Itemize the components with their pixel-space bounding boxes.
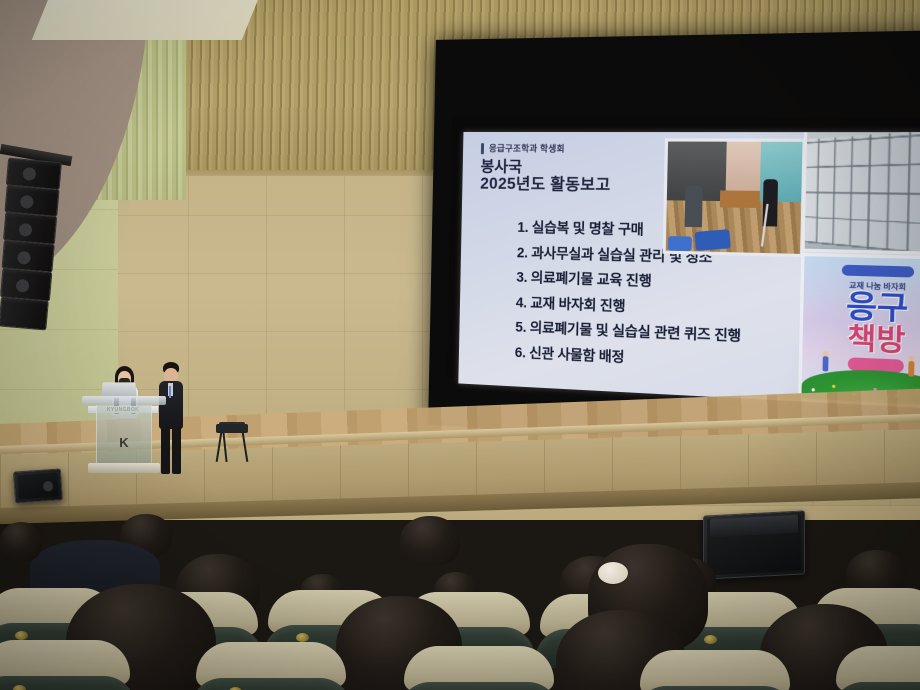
slide-title-line2: 2025년도 활동보고 [480,175,611,194]
slide-eyebrow: 응급구조학과 학생회 [481,142,565,155]
ceiling-soffit [32,0,270,40]
audience-head [400,516,460,566]
floor-monitor-speaker-left [13,468,63,503]
poster-title-line1: 응구 [803,290,920,327]
audience-head [0,522,42,562]
podium-base [88,463,160,473]
bazaar-poster-photo: 교재 나눔 바자회 응구 책방 [798,253,920,410]
seat [404,646,554,690]
student-figure [685,185,703,227]
lab-cleaning-photo [662,138,806,257]
presenter-standing [158,362,184,474]
slide-eyebrow-label: 응급구조학과 학생회 [489,142,565,155]
slide-title: 봉사국 2025년도 활동보고 [480,158,611,194]
poster-figure [822,356,828,371]
seat [836,646,920,690]
seat [0,640,130,690]
seat [640,650,790,690]
poster-top-pill [842,264,914,277]
lockers-photo [801,132,920,255]
poster-figure [908,361,914,377]
presentation-slide: 응급구조학과 학생회 봉사국 2025년도 활동보고 1. 실습복 및 명찰 구… [458,132,920,409]
podium-body: K [96,405,152,463]
hair-scrunchie [598,562,628,584]
lectern-podium: KYUNGBOK K [88,396,160,478]
podium-top [82,396,166,405]
seat [196,642,346,690]
slide-title-line1: 봉사국 [480,158,611,176]
podium-logo: K [119,435,128,450]
accent-bar-icon [481,143,484,154]
auditorium-scene: 응급구조학과 학생회 봉사국 2025년도 활동보고 1. 실습복 및 명찰 구… [0,0,920,690]
audience-seating [0,500,920,690]
folding-chair [216,424,248,464]
